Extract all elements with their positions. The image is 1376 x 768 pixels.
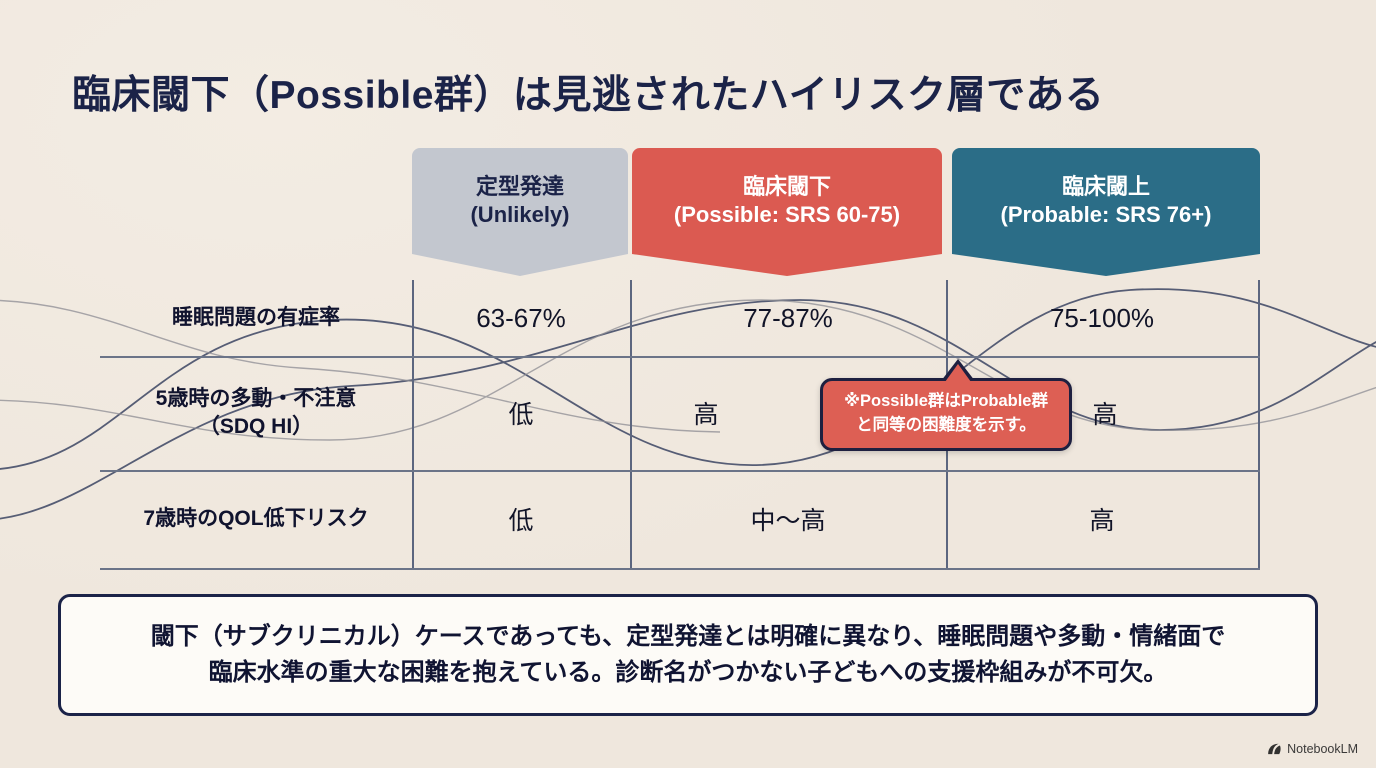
notebooklm-watermark-label: NotebookLM [1287,742,1358,756]
callout-note: ※Possible群はProbable群 と同等の困難度を示す。 [820,378,1072,451]
row-label-sdq: 5歳時の多動・不注意 （SDQ HI） [100,356,412,470]
summary-line2: 臨床水準の重大な困難を抱えている。診断名がつかない子どもへの支援枠組みが不可欠。 [151,655,1225,691]
row-label-sdq-line1: 5歳時の多動・不注意 [156,385,357,413]
row-label-sleep: 睡眠問題の有症率 [100,280,412,356]
page-title: 臨床閾下（Possible群）は見逃されたハイリスク層である [72,64,1104,120]
cell-sdq-possible: 高 [630,356,782,470]
cell-sleep-unlikely: 63-67% [412,280,630,356]
column-header-probable-line2: (Probable: SRS 76+) [1001,201,1212,229]
column-header-probable-tail [952,248,1260,276]
summary-line1: 閾下（サブクリニカル）ケースであっても、定型発達とは明確に異なり、睡眠問題や多動… [151,619,1225,655]
grid-hline-3 [100,568,1260,570]
cell-qol-possible: 中〜高 [630,470,946,568]
row-label-sleep-line1: 睡眠問題の有症率 [172,306,340,329]
notebooklm-logo-icon [1267,742,1282,756]
summary-box: 閾下（サブクリニカル）ケースであっても、定型発達とは明確に異なり、睡眠問題や多動… [58,594,1318,716]
comparison-table: 定型発達 (Unlikely) 臨床閾下 (Possible: SRS 60-7… [100,148,1260,568]
row-label-sdq-line2: （SDQ HI） [156,413,357,441]
cell-qol-unlikely: 低 [412,470,630,568]
cell-sdq-unlikely: 低 [412,356,630,470]
notebooklm-watermark: NotebookLM [1267,742,1358,756]
column-header-possible-tail [632,248,942,276]
cell-qol-probable: 高 [946,470,1258,568]
column-header-probable-line1: 臨床閾上 [1062,173,1150,201]
column-header-possible-line1: 臨床閾下 [743,173,831,201]
cell-sdq-probable: 高 [1060,356,1150,470]
column-header-probable: 臨床閾上 (Probable: SRS 76+) [952,148,1260,248]
row-label-qol: 7歳時のQOL低下リスク [100,470,412,568]
column-header-possible: 臨床閾下 (Possible: SRS 60-75) [632,148,942,248]
callout-line2: と同等の困難度を示す。 [831,414,1061,438]
column-header-unlikely-line2: (Unlikely) [470,201,569,229]
slide-root: 臨床閾下（Possible群）は見逃されたハイリスク層である 定型発達 (Unl… [0,0,1376,768]
row-label-qol-line1: 7歳時のQOL低下リスク [143,507,368,530]
column-header-unlikely: 定型発達 (Unlikely) [412,148,628,248]
column-header-possible-line2: (Possible: SRS 60-75) [674,201,900,229]
callout-line1: ※Possible群はProbable群 [831,390,1061,414]
cell-sleep-possible: 77-87% [630,280,946,356]
column-header-unlikely-line1: 定型発達 [476,173,564,201]
column-header-unlikely-tail [412,248,628,276]
grid-vline-4 [1258,280,1260,568]
cell-sleep-probable: 75-100% [946,280,1258,356]
callout-arrow-inner-icon [945,364,971,382]
